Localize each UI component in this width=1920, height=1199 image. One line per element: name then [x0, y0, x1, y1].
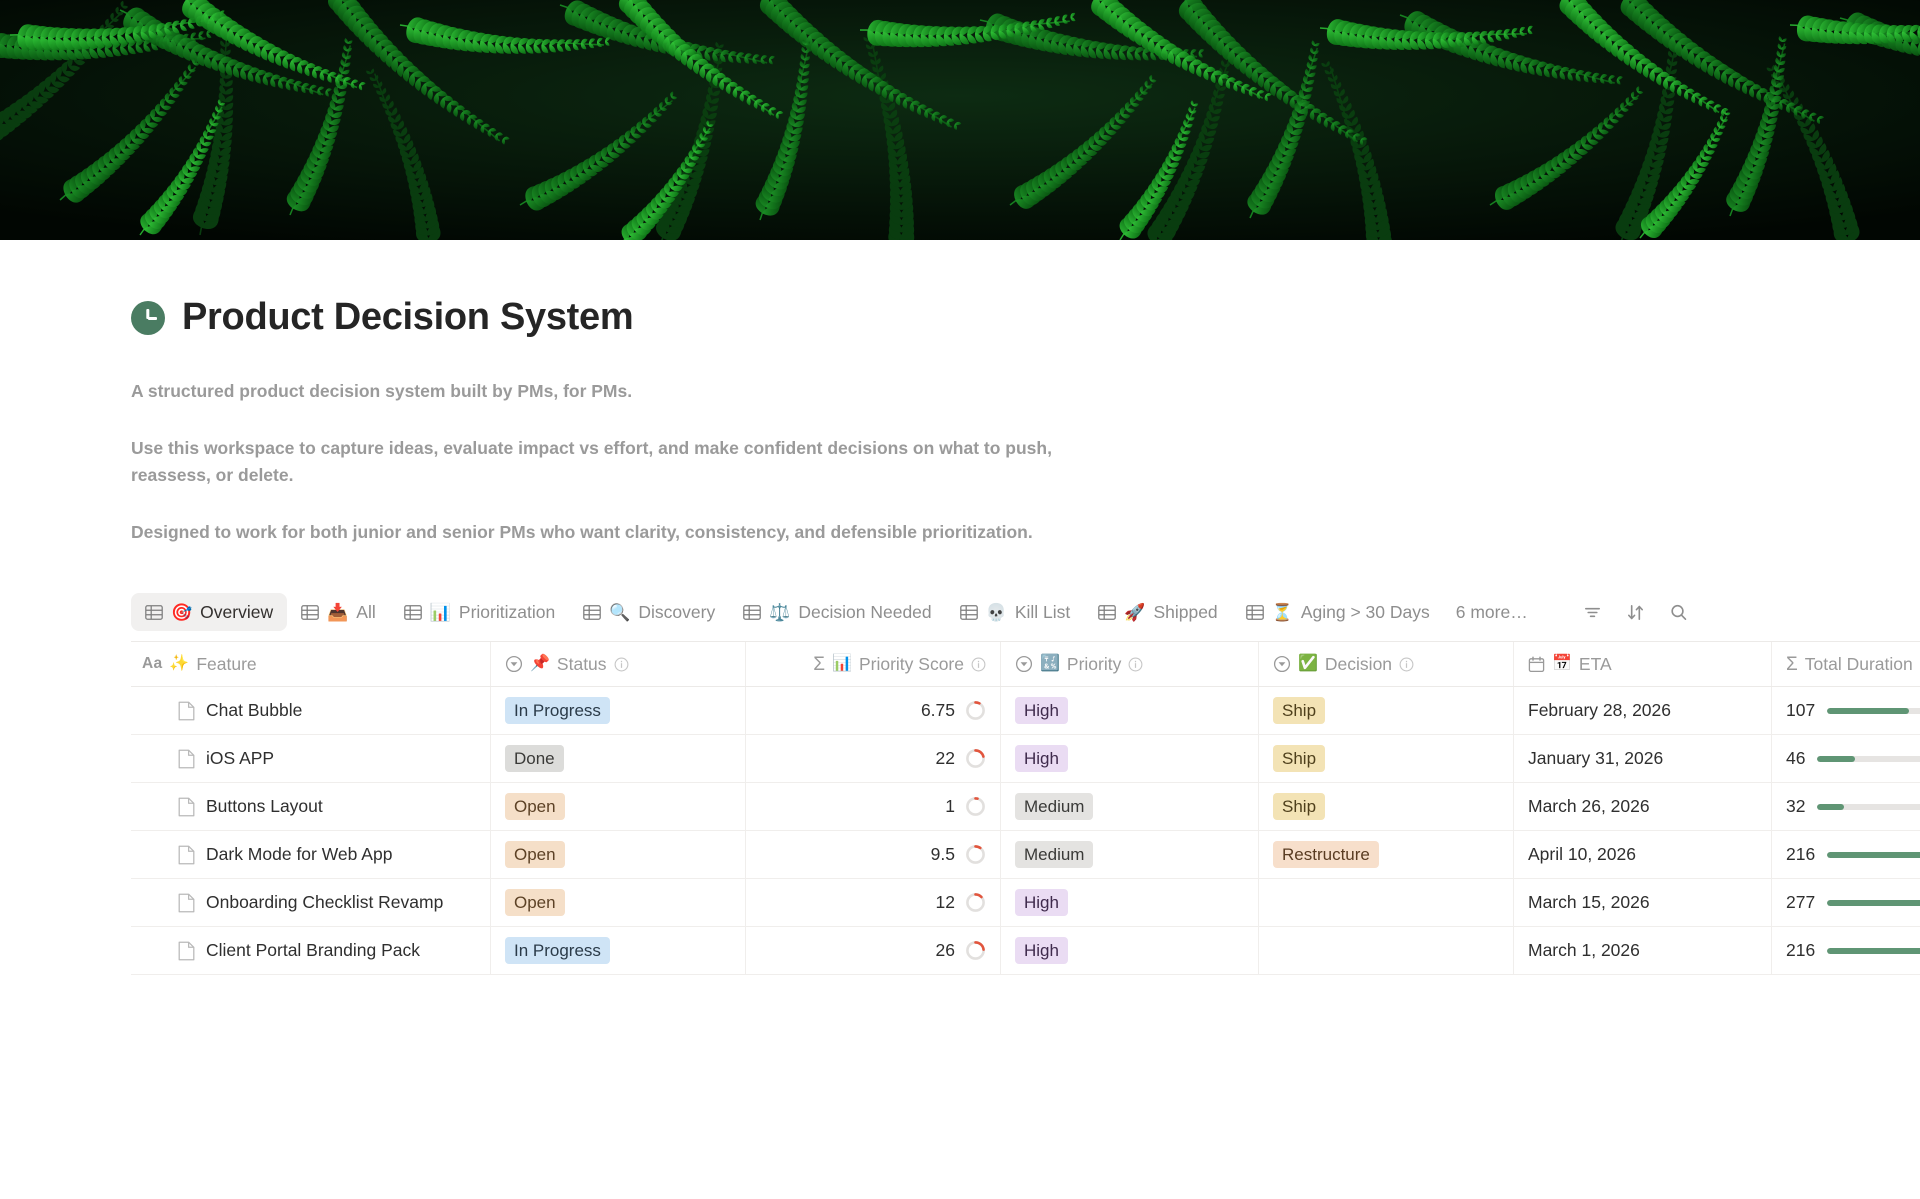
- column-header-score[interactable]: Σ📊Priority Score: [746, 642, 1001, 686]
- score-gauge: [965, 700, 986, 721]
- cell-total-duration[interactable]: 32: [1772, 783, 1920, 830]
- feature-name: Dark Mode for Web App: [206, 844, 392, 865]
- priority-score-value: 9.5: [931, 844, 955, 865]
- table-view-icon: [743, 605, 761, 620]
- priority-badge: High: [1015, 745, 1068, 772]
- table-view-icon: [1246, 605, 1264, 620]
- view-tab-label: Kill List: [1015, 602, 1070, 623]
- cell-eta[interactable]: January 31, 2026: [1514, 735, 1772, 782]
- eta-value: March 26, 2026: [1528, 796, 1650, 817]
- cell-status[interactable]: In Progress: [491, 927, 746, 974]
- formula-type-icon: Σ: [813, 655, 825, 674]
- sort-icon[interactable]: [1625, 602, 1646, 623]
- view-tab-decision-needed[interactable]: ⚖️Decision Needed: [729, 593, 945, 631]
- view-tab-label: Discovery: [638, 602, 715, 623]
- view-tab-emoji: 📥: [327, 604, 348, 621]
- cell-feature[interactable]: Chat Bubble: [131, 687, 491, 734]
- cell-feature[interactable]: Client Portal Branding Pack: [131, 927, 491, 974]
- cell-decision[interactable]: Ship: [1259, 783, 1514, 830]
- table-row[interactable]: Onboarding Checklist Revamp Open 12 High…: [131, 879, 1920, 927]
- view-tab-label: All: [356, 602, 375, 623]
- column-header-decision[interactable]: ✅Decision: [1259, 642, 1514, 686]
- total-duration-value: 107: [1786, 700, 1815, 721]
- status-badge: Open: [505, 793, 565, 820]
- column-header-eta[interactable]: 📅ETA: [1514, 642, 1772, 686]
- table-row[interactable]: Dark Mode for Web App Open 9.5 Medium Re…: [131, 831, 1920, 879]
- status-badge: Open: [505, 889, 565, 916]
- view-tab-discovery[interactable]: 🔍Discovery: [569, 593, 729, 631]
- column-header-duration[interactable]: ΣTotal Duration: [1772, 642, 1920, 686]
- intro-paragraph-3: Designed to work for both junior and sen…: [131, 519, 1091, 546]
- score-gauge: [965, 748, 986, 769]
- cell-status[interactable]: Open: [491, 831, 746, 878]
- priority-badge: High: [1015, 937, 1068, 964]
- intro-paragraph-1: A structured product decision system bui…: [131, 378, 1091, 405]
- table-header-row: Aa✨Feature 📌Status Σ📊Priority Score 🔣Pri…: [131, 641, 1920, 687]
- cell-priority[interactable]: High: [1001, 927, 1259, 974]
- cell-total-duration[interactable]: 216: [1772, 927, 1920, 974]
- priority-score-value: 26: [936, 940, 955, 961]
- status-badge: Done: [505, 745, 564, 772]
- cell-priority[interactable]: High: [1001, 687, 1259, 734]
- cell-priority-score[interactable]: 6.75: [746, 687, 1001, 734]
- info-icon[interactable]: [614, 657, 629, 672]
- view-tab-emoji: 🚀: [1124, 604, 1145, 621]
- view-tab-label: Decision Needed: [798, 602, 931, 623]
- cell-total-duration[interactable]: 46: [1772, 735, 1920, 782]
- status-badge: Open: [505, 841, 565, 868]
- view-tab-shipped[interactable]: 🚀Shipped: [1084, 593, 1231, 631]
- cell-status[interactable]: Open: [491, 783, 746, 830]
- cell-total-duration[interactable]: 107: [1772, 687, 1920, 734]
- cell-status[interactable]: Done: [491, 735, 746, 782]
- page-icon: [178, 893, 195, 913]
- column-header-label: Decision: [1325, 654, 1392, 675]
- priority-badge: High: [1015, 889, 1068, 916]
- column-header-emoji: 🔣: [1040, 656, 1060, 672]
- table-view-icon: [583, 605, 601, 620]
- cell-priority[interactable]: High: [1001, 879, 1259, 926]
- cell-decision[interactable]: Restructure: [1259, 831, 1514, 878]
- page-icon: [178, 701, 195, 721]
- decision-badge: Ship: [1273, 793, 1325, 820]
- table-body: Chat Bubble In Progress 6.75 High Ship F…: [131, 687, 1920, 975]
- table-view-icon: [960, 605, 978, 620]
- column-header-label: Feature: [196, 654, 256, 675]
- duration-progress-bar: [1817, 804, 1920, 810]
- duration-progress-bar: [1827, 708, 1920, 714]
- filter-icon[interactable]: [1582, 602, 1603, 623]
- column-header-emoji: 📌: [530, 656, 550, 672]
- priority-score-value: 22: [936, 748, 955, 769]
- view-tab-overview[interactable]: 🎯Overview: [131, 593, 287, 631]
- eta-value: February 28, 2026: [1528, 700, 1671, 721]
- cell-decision[interactable]: [1259, 927, 1514, 974]
- view-tab-label: Overview: [200, 602, 273, 623]
- cell-priority-score[interactable]: 1: [746, 783, 1001, 830]
- database-table: Aa✨Feature 📌Status Σ📊Priority Score 🔣Pri…: [131, 641, 1920, 975]
- column-header-emoji: 📅: [1552, 656, 1572, 672]
- cell-priority[interactable]: Medium: [1001, 831, 1259, 878]
- more-views-button[interactable]: 6 more…: [1444, 602, 1540, 623]
- select-type-icon: [505, 655, 523, 673]
- page-content: Product Decision System A structured pro…: [0, 296, 1920, 975]
- view-tab-label: Shipped: [1153, 602, 1217, 623]
- column-header-label: Total Duration: [1805, 654, 1913, 675]
- page-title: Product Decision System: [182, 296, 633, 340]
- cell-status[interactable]: Open: [491, 879, 746, 926]
- page-icon: [178, 797, 195, 817]
- column-header-status[interactable]: 📌Status: [491, 642, 746, 686]
- cell-feature[interactable]: Dark Mode for Web App: [131, 831, 491, 878]
- cell-eta[interactable]: March 15, 2026: [1514, 879, 1772, 926]
- total-duration-value: 32: [1786, 796, 1805, 817]
- status-badge: In Progress: [505, 937, 610, 964]
- feature-name: iOS APP: [206, 748, 274, 769]
- page-icon: [178, 749, 195, 769]
- score-gauge: [965, 940, 986, 961]
- view-tab-prioritization[interactable]: 📊Prioritization: [390, 593, 569, 631]
- decision-badge: Restructure: [1273, 841, 1379, 868]
- cell-priority[interactable]: High: [1001, 735, 1259, 782]
- column-header-label: Priority Score: [859, 654, 964, 675]
- cell-decision[interactable]: Ship: [1259, 735, 1514, 782]
- cell-eta[interactable]: March 1, 2026: [1514, 927, 1772, 974]
- fern-photo: [0, 0, 1920, 240]
- cell-priority-score[interactable]: 26: [746, 927, 1001, 974]
- cell-eta[interactable]: April 10, 2026: [1514, 831, 1772, 878]
- view-tab-label: Aging > 30 Days: [1301, 602, 1430, 623]
- eta-value: January 31, 2026: [1528, 748, 1663, 769]
- info-icon[interactable]: [1128, 657, 1143, 672]
- decision-badge: Ship: [1273, 745, 1325, 772]
- eta-value: March 15, 2026: [1528, 892, 1650, 913]
- info-icon[interactable]: [971, 657, 986, 672]
- cell-eta[interactable]: March 26, 2026: [1514, 783, 1772, 830]
- view-tab-emoji: 🔍: [609, 604, 630, 621]
- cell-eta[interactable]: February 28, 2026: [1514, 687, 1772, 734]
- column-header-label: ETA: [1579, 654, 1612, 675]
- page-title-row: Product Decision System: [131, 296, 1920, 340]
- view-tab-label: Prioritization: [459, 602, 555, 623]
- column-header-priority[interactable]: 🔣Priority: [1001, 642, 1259, 686]
- cell-total-duration[interactable]: 277: [1772, 879, 1920, 926]
- select-type-icon: [1015, 655, 1033, 673]
- cell-status[interactable]: In Progress: [491, 687, 746, 734]
- duration-progress-bar: [1817, 756, 1920, 762]
- total-duration-value: 46: [1786, 748, 1805, 769]
- duration-progress-bar: [1827, 900, 1920, 906]
- score-gauge: [965, 892, 986, 913]
- view-tab-emoji: 📊: [430, 604, 451, 621]
- eta-value: March 1, 2026: [1528, 940, 1640, 961]
- total-duration-value: 216: [1786, 844, 1815, 865]
- page-banner: [0, 0, 1920, 240]
- table-view-icon: [145, 605, 163, 620]
- info-icon[interactable]: [1399, 657, 1414, 672]
- priority-badge: High: [1015, 697, 1068, 724]
- feature-name: Chat Bubble: [206, 700, 302, 721]
- search-icon[interactable]: [1668, 602, 1689, 623]
- cell-priority-score[interactable]: 22: [746, 735, 1001, 782]
- page-icon: [178, 941, 195, 961]
- table-view-icon: [301, 605, 319, 620]
- text-type-icon: Aa: [142, 655, 162, 673]
- table-row[interactable]: Client Portal Branding Pack In Progress …: [131, 927, 1920, 975]
- total-duration-value: 216: [1786, 940, 1815, 961]
- table-row[interactable]: iOS APP Done 22 High Ship January 31, 20…: [131, 735, 1920, 783]
- cell-priority-score[interactable]: 9.5: [746, 831, 1001, 878]
- decision-badge: Ship: [1273, 697, 1325, 724]
- score-gauge: [965, 844, 986, 865]
- column-header-label: Status: [557, 654, 607, 675]
- status-badge: In Progress: [505, 697, 610, 724]
- view-tab-emoji: 💀: [986, 604, 1007, 621]
- select-type-icon: [1273, 655, 1291, 673]
- formula-type-icon: Σ: [1786, 655, 1798, 674]
- view-tab-emoji: ⚖️: [769, 604, 790, 621]
- column-header-label: Priority: [1067, 654, 1121, 675]
- column-header-emoji: ✅: [1298, 656, 1318, 672]
- cell-decision[interactable]: [1259, 879, 1514, 926]
- table-row[interactable]: Chat Bubble In Progress 6.75 High Ship F…: [131, 687, 1920, 735]
- view-tab-kill-list[interactable]: 💀Kill List: [946, 593, 1085, 631]
- column-header-feature[interactable]: Aa✨Feature: [131, 642, 491, 686]
- view-tab-emoji: ⏳: [1272, 604, 1293, 621]
- view-tab-all[interactable]: 📥All: [287, 593, 390, 631]
- date-type-icon: [1528, 656, 1545, 673]
- page-icon: [178, 845, 195, 865]
- duration-progress-bar: [1827, 852, 1920, 858]
- cell-feature[interactable]: Buttons Layout: [131, 783, 491, 830]
- view-tab-aging-30-days[interactable]: ⏳Aging > 30 Days: [1232, 593, 1444, 631]
- priority-badge: Medium: [1015, 793, 1093, 820]
- duration-progress-bar: [1827, 948, 1920, 954]
- cell-feature[interactable]: iOS APP: [131, 735, 491, 782]
- column-header-emoji: 📊: [832, 656, 852, 672]
- cell-priority[interactable]: Medium: [1001, 783, 1259, 830]
- column-header-emoji: ✨: [169, 656, 189, 672]
- feature-name: Buttons Layout: [206, 796, 323, 817]
- priority-score-value: 1: [945, 796, 955, 817]
- intro-paragraph-2: Use this workspace to capture ideas, eva…: [131, 435, 1091, 489]
- feature-name: Client Portal Branding Pack: [206, 940, 420, 961]
- cell-feature[interactable]: Onboarding Checklist Revamp: [131, 879, 491, 926]
- cell-total-duration[interactable]: 216: [1772, 831, 1920, 878]
- clock-icon: [131, 301, 165, 335]
- score-gauge: [965, 796, 986, 817]
- view-tab-emoji: 🎯: [171, 604, 192, 621]
- cell-decision[interactable]: Ship: [1259, 687, 1514, 734]
- priority-score-value: 6.75: [921, 700, 955, 721]
- table-view-icon: [404, 605, 422, 620]
- cell-priority-score[interactable]: 12: [746, 879, 1001, 926]
- priority-badge: Medium: [1015, 841, 1093, 868]
- table-toolbar: [1582, 602, 1689, 623]
- priority-score-value: 12: [936, 892, 955, 913]
- feature-name: Onboarding Checklist Revamp: [206, 892, 443, 913]
- eta-value: April 10, 2026: [1528, 844, 1636, 865]
- total-duration-value: 277: [1786, 892, 1815, 913]
- table-view-icon: [1098, 605, 1116, 620]
- page-body: Product Decision System A structured pro…: [0, 296, 1920, 975]
- table-row[interactable]: Buttons Layout Open 1 Medium Ship March …: [131, 783, 1920, 831]
- view-tab-bar: 🎯Overview 📥All 📊Prioritization 🔍Discover…: [131, 591, 1920, 633]
